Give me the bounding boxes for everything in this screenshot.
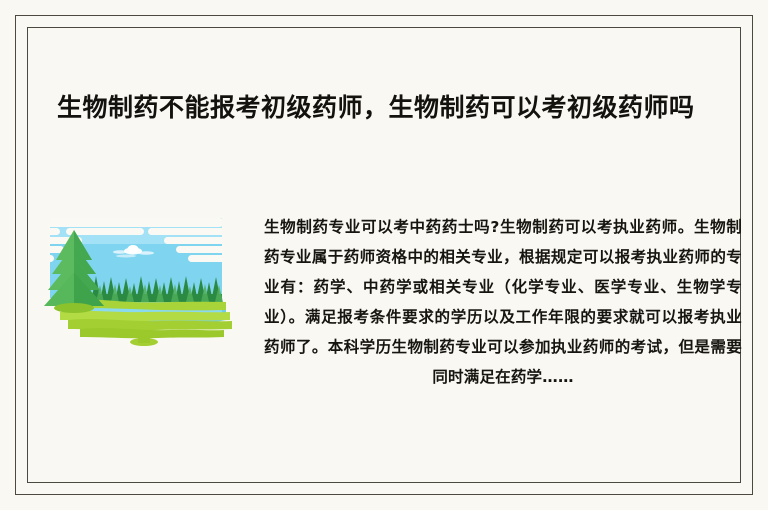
nature-lake-forest-illustration [36,216,236,350]
page-title: 生物制药不能报考初级药师，生物制药可以考初级药师吗 [57,91,717,125]
illustration-svg [36,216,236,350]
page-root: 生物制药不能报考初级药师，生物制药可以考初级药师吗 [0,0,768,510]
article-body-text: 生物制药专业可以考中药药士吗?生物制药可以考执业药师。生物制药专业属于药师资格中… [264,212,742,392]
